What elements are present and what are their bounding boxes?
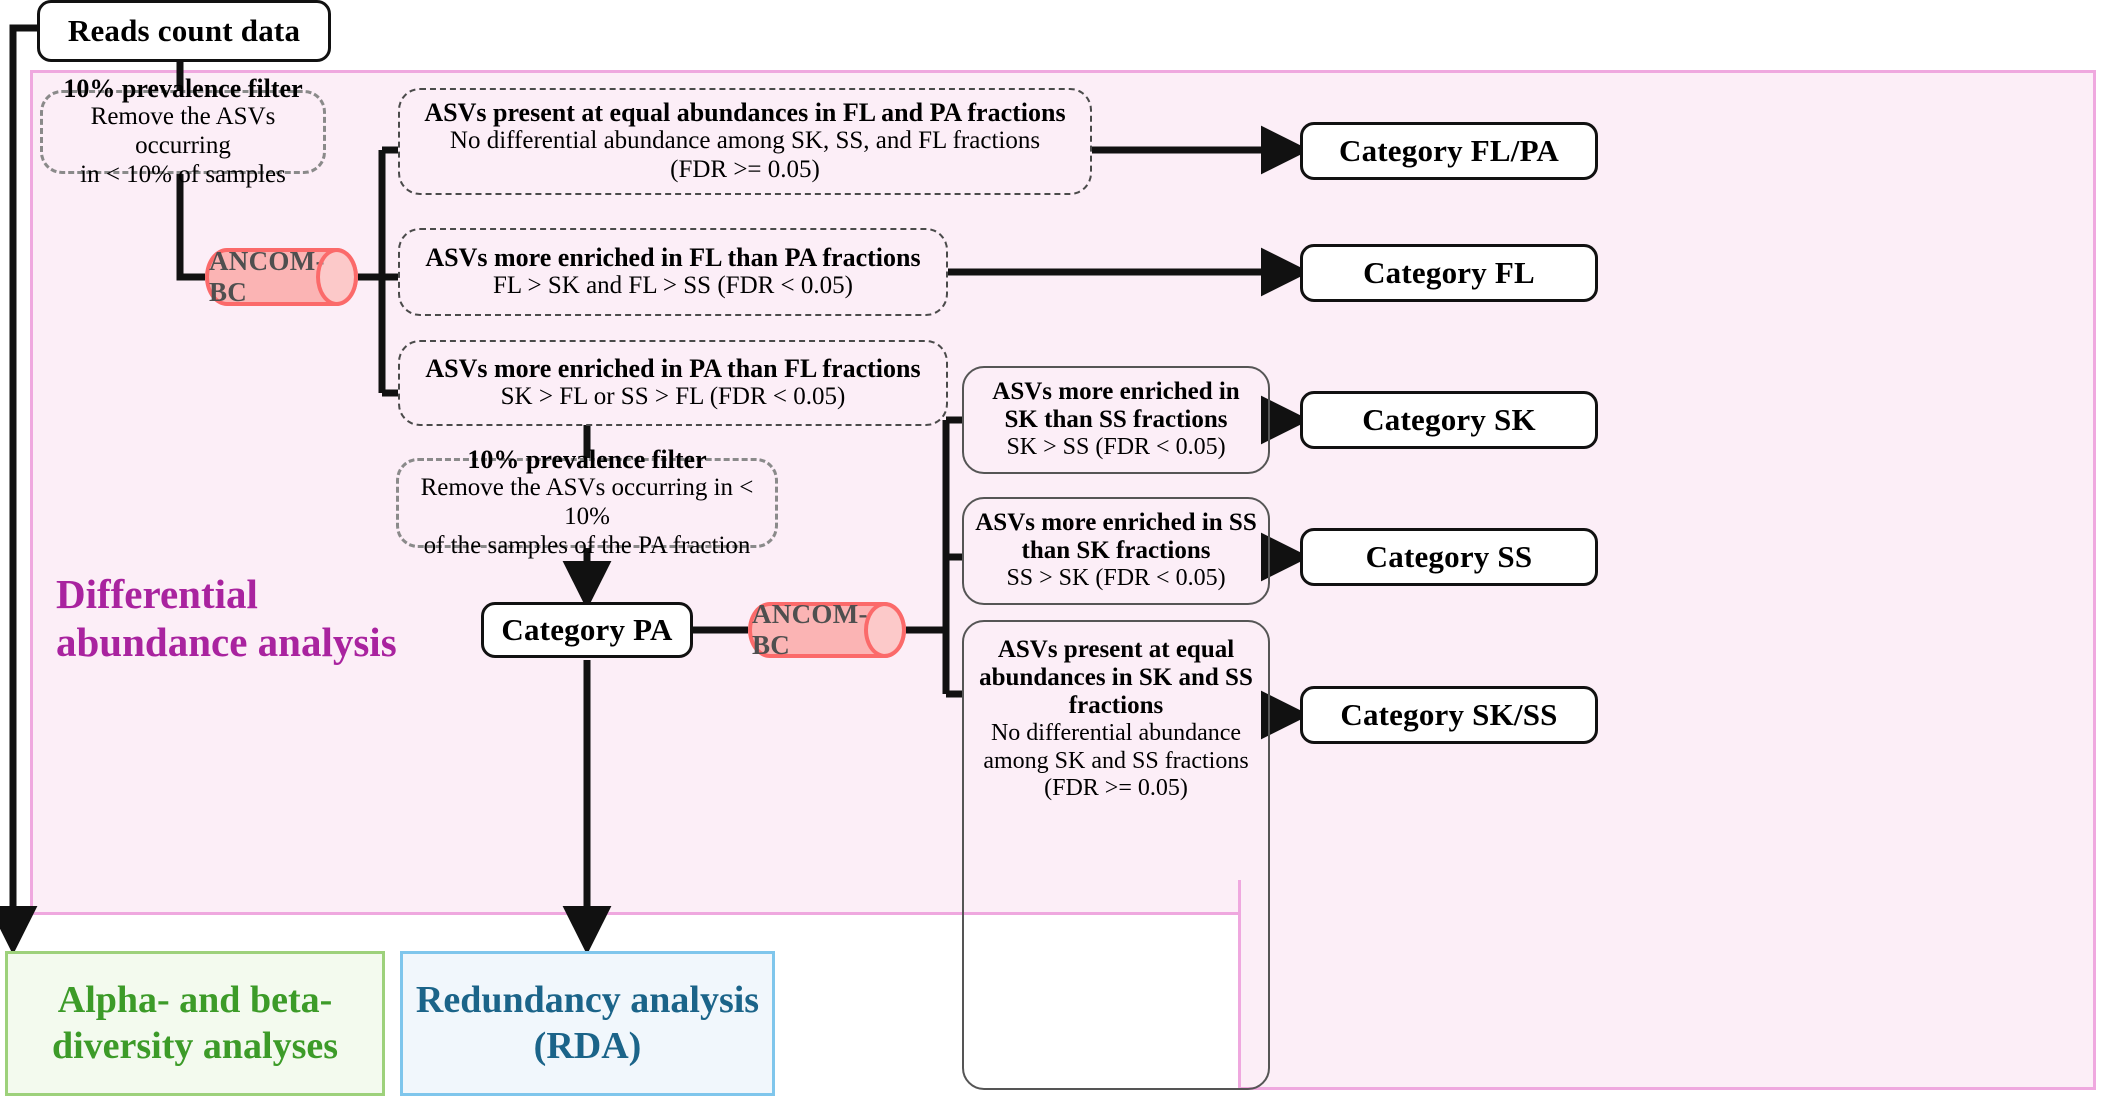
node-criteria-sk-ss-equal-sub1: No differential abundance [991,720,1241,748]
node-criteria-sk-ss-equal-sub3: (FDR >= 0.05) [1044,775,1188,803]
node-prevalence-filter-1[interactable]: 10% prevalence filter Remove the ASVs oc… [40,90,326,174]
node-prevalence-filter-2-sub1: Remove the ASVs occurring in < 10% [409,474,765,532]
node-category-ss[interactable]: Category SS [1300,528,1598,586]
node-category-pa-title: Category PA [501,613,672,648]
node-criteria-fl-pa-equal-title: ASVs present at equal abundances in FL a… [424,98,1065,127]
node-reads-count-data-title: Reads count data [68,14,300,49]
node-redundancy-analysis[interactable]: Redundancy analysis (RDA) [400,951,775,1096]
node-criteria-pa-enriched[interactable]: ASVs more enriched in PA than FL fractio… [398,340,948,426]
node-alpha-beta-diversity-title1: Alpha- and beta- [58,978,333,1024]
node-category-fl-pa-title: Category FL/PA [1339,134,1559,169]
region-label-line1: Differential [56,570,486,618]
node-reads-count-data[interactable]: Reads count data [37,0,331,62]
node-criteria-sk-ss-equal-sub2: among SK and SS fractions [983,748,1248,776]
node-criteria-sk-ss-equal-title3: fractions [1069,692,1163,720]
region-seam-patch [1241,908,2093,922]
node-criteria-fl-pa-equal-sub1: No differential abundance among SK, SS, … [450,127,1040,156]
region-label-line2: abundance analysis [56,618,486,666]
node-category-sk-ss-title: Category SK/SS [1340,698,1557,733]
node-criteria-fl-pa-equal[interactable]: ASVs present at equal abundances in FL a… [398,88,1092,195]
node-redundancy-analysis-title2: (RDA) [534,1024,642,1070]
cylinder-cap-icon [864,602,906,658]
node-criteria-sk-enriched-title2: SK than SS fractions [1005,406,1228,434]
node-criteria-fl-pa-equal-sub2: (FDR >= 0.05) [670,156,820,185]
node-alpha-beta-diversity-title2: diversity analyses [52,1024,338,1070]
node-criteria-sk-ss-equal[interactable]: ASVs present at equal abundances in SK a… [962,620,1270,1090]
node-criteria-ss-enriched-title2: than SK fractions [1022,537,1211,565]
node-prevalence-filter-2[interactable]: 10% prevalence filter Remove the ASVs oc… [396,458,778,548]
node-category-fl[interactable]: Category FL [1300,244,1598,302]
node-prevalence-filter-1-sub1: Remove the ASVs occurring [51,103,315,161]
node-prevalence-filter-1-title: 10% prevalence filter [63,74,302,103]
node-prevalence-filter-1-sub2: in < 10% of samples [80,161,286,190]
node-criteria-pa-enriched-title: ASVs more enriched in PA than FL fractio… [425,354,920,383]
node-redundancy-analysis-title1: Redundancy analysis [416,978,759,1024]
node-alpha-beta-diversity[interactable]: Alpha- and beta- diversity analyses [5,951,385,1096]
node-category-fl-title: Category FL [1363,256,1535,291]
region-label: Differential abundance analysis [56,570,486,667]
node-criteria-ss-enriched[interactable]: ASVs more enriched in SS than SK fractio… [962,497,1270,605]
node-category-ss-title: Category SS [1366,540,1533,575]
node-criteria-fl-enriched-title: ASVs more enriched in FL than PA fractio… [425,243,920,272]
node-category-sk-title: Category SK [1362,403,1536,438]
node-category-pa[interactable]: Category PA [481,602,693,658]
node-criteria-ss-enriched-title1: ASVs more enriched in SS [975,509,1257,537]
node-category-fl-pa[interactable]: Category FL/PA [1300,122,1598,180]
node-criteria-fl-enriched[interactable]: ASVs more enriched in FL than PA fractio… [398,228,948,316]
node-prevalence-filter-2-title: 10% prevalence filter [467,445,706,474]
node-criteria-ss-enriched-sub1: SS > SK (FDR < 0.05) [1006,565,1225,593]
node-category-sk[interactable]: Category SK [1300,391,1598,449]
tool-ancom-bc-2[interactable]: ANCOM-BC [748,602,906,658]
node-criteria-sk-enriched[interactable]: ASVs more enriched in SK than SS fractio… [962,366,1270,474]
node-criteria-fl-enriched-sub1: FL > SK and FL > SS (FDR < 0.05) [493,272,853,301]
node-criteria-sk-enriched-title1: ASVs more enriched in [992,378,1239,406]
cylinder-cap-icon [316,248,358,306]
node-prevalence-filter-2-sub2: of the samples of the PA fraction [424,532,751,561]
tool-ancom-bc-1[interactable]: ANCOM-BC [205,248,358,306]
node-criteria-sk-ss-equal-title2: abundances in SK and SS [979,664,1253,692]
node-criteria-sk-ss-equal-title1: ASVs present at equal [998,636,1234,664]
flowchart-canvas: Differential abundance analysis [0,0,2103,1102]
node-criteria-pa-enriched-sub1: SK > FL or SS > FL (FDR < 0.05) [501,383,846,412]
node-category-sk-ss[interactable]: Category SK/SS [1300,686,1598,744]
node-criteria-sk-enriched-sub1: SK > SS (FDR < 0.05) [1006,434,1225,462]
